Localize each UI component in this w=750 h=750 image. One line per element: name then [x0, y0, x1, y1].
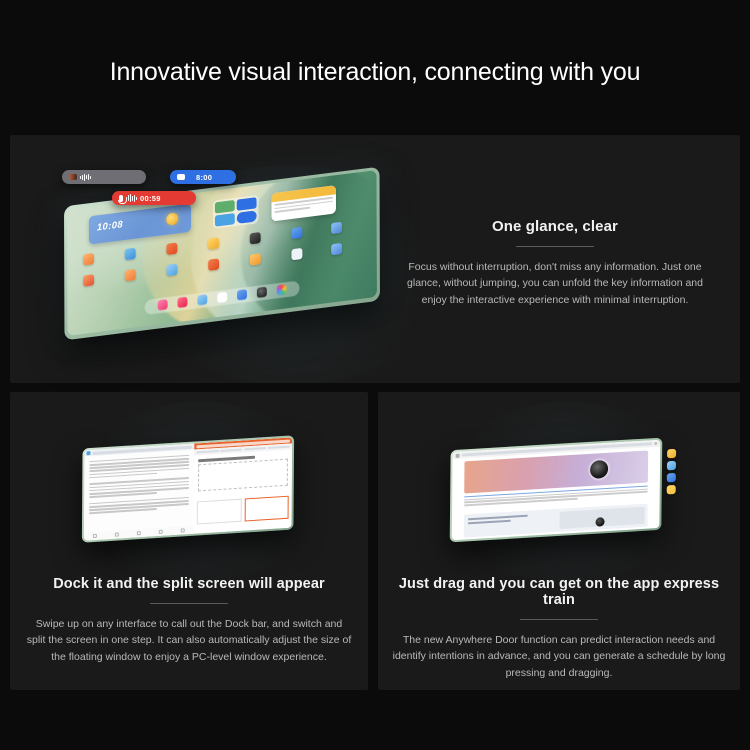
nav-edit-icon[interactable] — [181, 528, 185, 532]
nav-home-icon[interactable] — [137, 531, 141, 535]
group-app-icon-1[interactable] — [215, 200, 236, 214]
tablet-body — [82, 435, 294, 543]
split-pane-right[interactable] — [194, 437, 292, 533]
floating-app-icon[interactable] — [667, 485, 676, 495]
gallery-app-icon[interactable] — [277, 284, 287, 295]
alarm-capsule-label: 8:00 — [196, 173, 212, 182]
nav-back-icon[interactable] — [93, 534, 97, 538]
microphone-icon — [119, 195, 123, 202]
dock-split-body: Swipe up on any interface to call out th… — [26, 616, 352, 665]
slide-content-box[interactable] — [198, 458, 288, 491]
app-icon[interactable] — [208, 237, 219, 249]
calendar-app-icon[interactable] — [217, 292, 227, 303]
group-app-icon-4[interactable] — [237, 210, 258, 224]
messages-app-icon[interactable] — [237, 289, 247, 300]
app-group-widget[interactable] — [213, 195, 260, 229]
one-glance-body: Focus without interruption, don't miss a… — [395, 259, 715, 308]
promo-page: Innovative visual interaction, connectin… — [0, 0, 750, 750]
notes-widget[interactable] — [271, 185, 336, 221]
group-app-icon-3[interactable] — [215, 213, 236, 227]
anywhere-door-card[interactable] — [464, 504, 648, 538]
anywhere-door-body: The new Anywhere Door function can predi… — [392, 632, 726, 681]
record-capsule[interactable]: 00:59 — [112, 191, 196, 205]
app-icon[interactable] — [124, 269, 135, 281]
weather-time: 10:08 — [97, 219, 123, 233]
tablet-body — [450, 438, 663, 543]
slide-thumbnail-selected[interactable] — [244, 495, 288, 521]
camera-module-icon — [590, 460, 608, 479]
record-capsule-label: 00:59 — [140, 194, 161, 203]
media-thumbnail-icon — [69, 174, 77, 180]
app-icon[interactable] — [166, 263, 177, 275]
card-image-column — [560, 507, 645, 529]
document-bottom-nav[interactable] — [84, 526, 194, 541]
books-app-icon[interactable] — [197, 294, 207, 305]
card-text-column — [464, 509, 557, 537]
dock-split-heading: Dock it and the split screen will appear — [26, 576, 352, 592]
app-icon[interactable] — [83, 274, 94, 286]
app-icon[interactable] — [208, 258, 219, 270]
app-icon[interactable] — [83, 253, 94, 265]
group-app-icon-2[interactable] — [236, 197, 257, 211]
split-pane-left[interactable] — [84, 443, 195, 540]
heading-divider — [520, 619, 598, 620]
slide-thumbnail[interactable] — [197, 498, 241, 524]
browser-app-icon — [456, 453, 460, 457]
audio-waveform-icon — [80, 174, 91, 181]
tablet-screen — [84, 437, 292, 540]
tablet-body: 10:08 — [64, 167, 380, 341]
app-icon[interactable] — [250, 253, 261, 265]
app-icon[interactable] — [292, 227, 303, 239]
app-icon[interactable] — [292, 247, 303, 259]
alarm-clock-icon — [177, 174, 185, 180]
hero-tablet-device: 10:08 — [55, 182, 400, 337]
dock-split-copy-block: Dock it and the split screen will appear… — [26, 576, 352, 665]
app-icon[interactable] — [331, 243, 342, 255]
one-glance-heading: One glance, clear — [395, 218, 715, 235]
close-icon[interactable] — [654, 442, 657, 445]
floating-app-icon[interactable] — [667, 461, 676, 471]
split-screen-device — [60, 432, 310, 552]
camera-app-icon[interactable] — [257, 287, 267, 298]
record-waveform-icon — [126, 194, 137, 202]
alarm-capsule[interactable]: 8:00 — [170, 170, 236, 184]
heading-divider — [150, 603, 228, 604]
sun-icon — [167, 212, 179, 226]
floating-app-icon[interactable] — [667, 449, 676, 459]
home-dock[interactable] — [145, 280, 300, 315]
app-icon[interactable] — [166, 243, 177, 255]
floating-app-icon[interactable] — [667, 473, 676, 483]
slide-thumbnail-row[interactable] — [197, 495, 289, 524]
nav-tabs-icon[interactable] — [159, 530, 163, 534]
anywhere-door-heading: Just drag and you can get on the app exp… — [392, 576, 726, 608]
one-glance-copy-block: One glance, clear Focus without interrup… — [395, 218, 715, 308]
heading-divider — [516, 246, 594, 247]
weather-widget[interactable]: 10:08 — [89, 204, 191, 245]
tablet-screen — [452, 440, 661, 541]
app-icon[interactable] — [331, 222, 342, 234]
music-app-icon[interactable] — [177, 297, 187, 308]
media-capsule[interactable] — [62, 170, 146, 184]
document-text-body — [84, 450, 194, 515]
nav-search-icon[interactable] — [115, 532, 119, 536]
anywhere-door-device — [420, 432, 700, 552]
video-app-icon[interactable] — [158, 299, 168, 310]
page-title: Innovative visual interaction, connectin… — [0, 58, 750, 87]
app-icon[interactable] — [124, 248, 135, 260]
doc-app-icon — [86, 451, 90, 455]
anywhere-door-copy-block: Just drag and you can get on the app exp… — [392, 576, 726, 681]
app-icon[interactable] — [250, 232, 261, 244]
floating-app-dock[interactable] — [667, 449, 676, 495]
